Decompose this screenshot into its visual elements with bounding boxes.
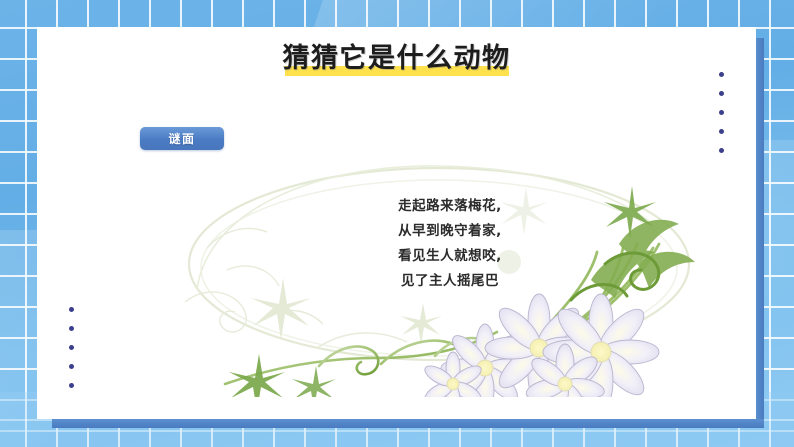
title-label: 猜猜它是什么动物 <box>283 43 511 74</box>
card-shadow-right <box>755 38 764 425</box>
decorative-dots-left <box>69 307 74 388</box>
dot <box>69 345 74 350</box>
content-card: 猜猜它是什么动物 谜面 <box>37 27 756 419</box>
verse-line: 走起路来落梅花, <box>350 194 550 219</box>
title-block: 猜猜它是什么动物 <box>279 42 515 79</box>
card-shadow-bottom <box>52 419 764 428</box>
dot <box>719 91 724 96</box>
verse-line: 看见生人就想咬, <box>350 244 550 269</box>
dot <box>719 72 724 77</box>
dot <box>719 148 724 153</box>
decorative-dots-right <box>719 72 724 153</box>
page-title: 猜猜它是什么动物 <box>37 42 756 79</box>
dot <box>719 129 724 134</box>
dot <box>69 307 74 312</box>
section-badge-label: 谜面 <box>168 130 195 147</box>
dot <box>719 110 724 115</box>
riddle-verse: 走起路来落梅花, 从早到晚守着家, 看见生人就想咬, 见了主人摇尾巴 <box>350 194 550 294</box>
verse-line: 从早到晚守着家, <box>350 219 550 244</box>
section-badge[interactable]: 谜面 <box>140 127 224 150</box>
dot <box>69 326 74 331</box>
dot <box>69 364 74 369</box>
presentation-slide: 猜猜它是什么动物 谜面 <box>0 0 794 447</box>
verse-line: 见了主人摇尾巴 <box>350 269 550 294</box>
dot <box>69 383 74 388</box>
